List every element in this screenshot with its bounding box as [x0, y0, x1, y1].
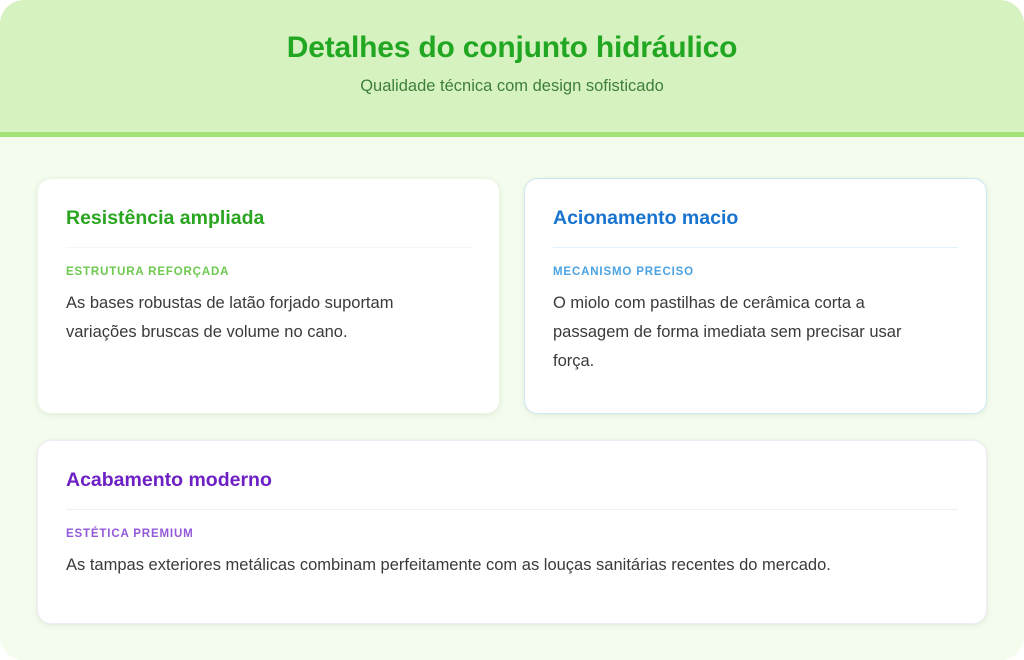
card-divider	[553, 247, 958, 248]
page-root: Detalhes do conjunto hidráulico Qualidad…	[0, 0, 1024, 660]
card-body-text: As bases robustas de latão forjado supor…	[66, 289, 451, 346]
card-body-text: As tampas exteriores metálicas combinam …	[66, 551, 958, 580]
card-eyebrow-label: MECANISMO PRECISO	[553, 266, 958, 280]
card-body-text: O miolo com pastilhas de cerâmica corta …	[553, 289, 938, 375]
card-title: Acabamento moderno	[66, 468, 958, 492]
cards-container: Resistência ampliada ESTRUTURA REFORÇADA…	[0, 137, 1024, 660]
card-divider	[66, 509, 958, 510]
feature-card-resistencia[interactable]: Resistência ampliada ESTRUTURA REFORÇADA…	[37, 178, 500, 414]
cards-top-row: Resistência ampliada ESTRUTURA REFORÇADA…	[37, 178, 987, 414]
feature-card-acabamento[interactable]: Acabamento moderno ESTÉTICA PREMIUM As t…	[37, 440, 987, 624]
page-subtitle: Qualidade técnica com design sofisticado	[0, 66, 1024, 97]
feature-card-acionamento[interactable]: Acionamento macio MECANISMO PRECISO O mi…	[524, 178, 987, 414]
card-title: Acionamento macio	[553, 206, 958, 230]
page-title: Detalhes do conjunto hidráulico	[0, 0, 1024, 66]
page-header: Detalhes do conjunto hidráulico Qualidad…	[0, 0, 1024, 132]
card-eyebrow-label: ESTÉTICA PREMIUM	[66, 528, 958, 542]
card-divider	[66, 247, 471, 248]
card-eyebrow-label: ESTRUTURA REFORÇADA	[66, 266, 471, 280]
card-title: Resistência ampliada	[66, 206, 471, 230]
